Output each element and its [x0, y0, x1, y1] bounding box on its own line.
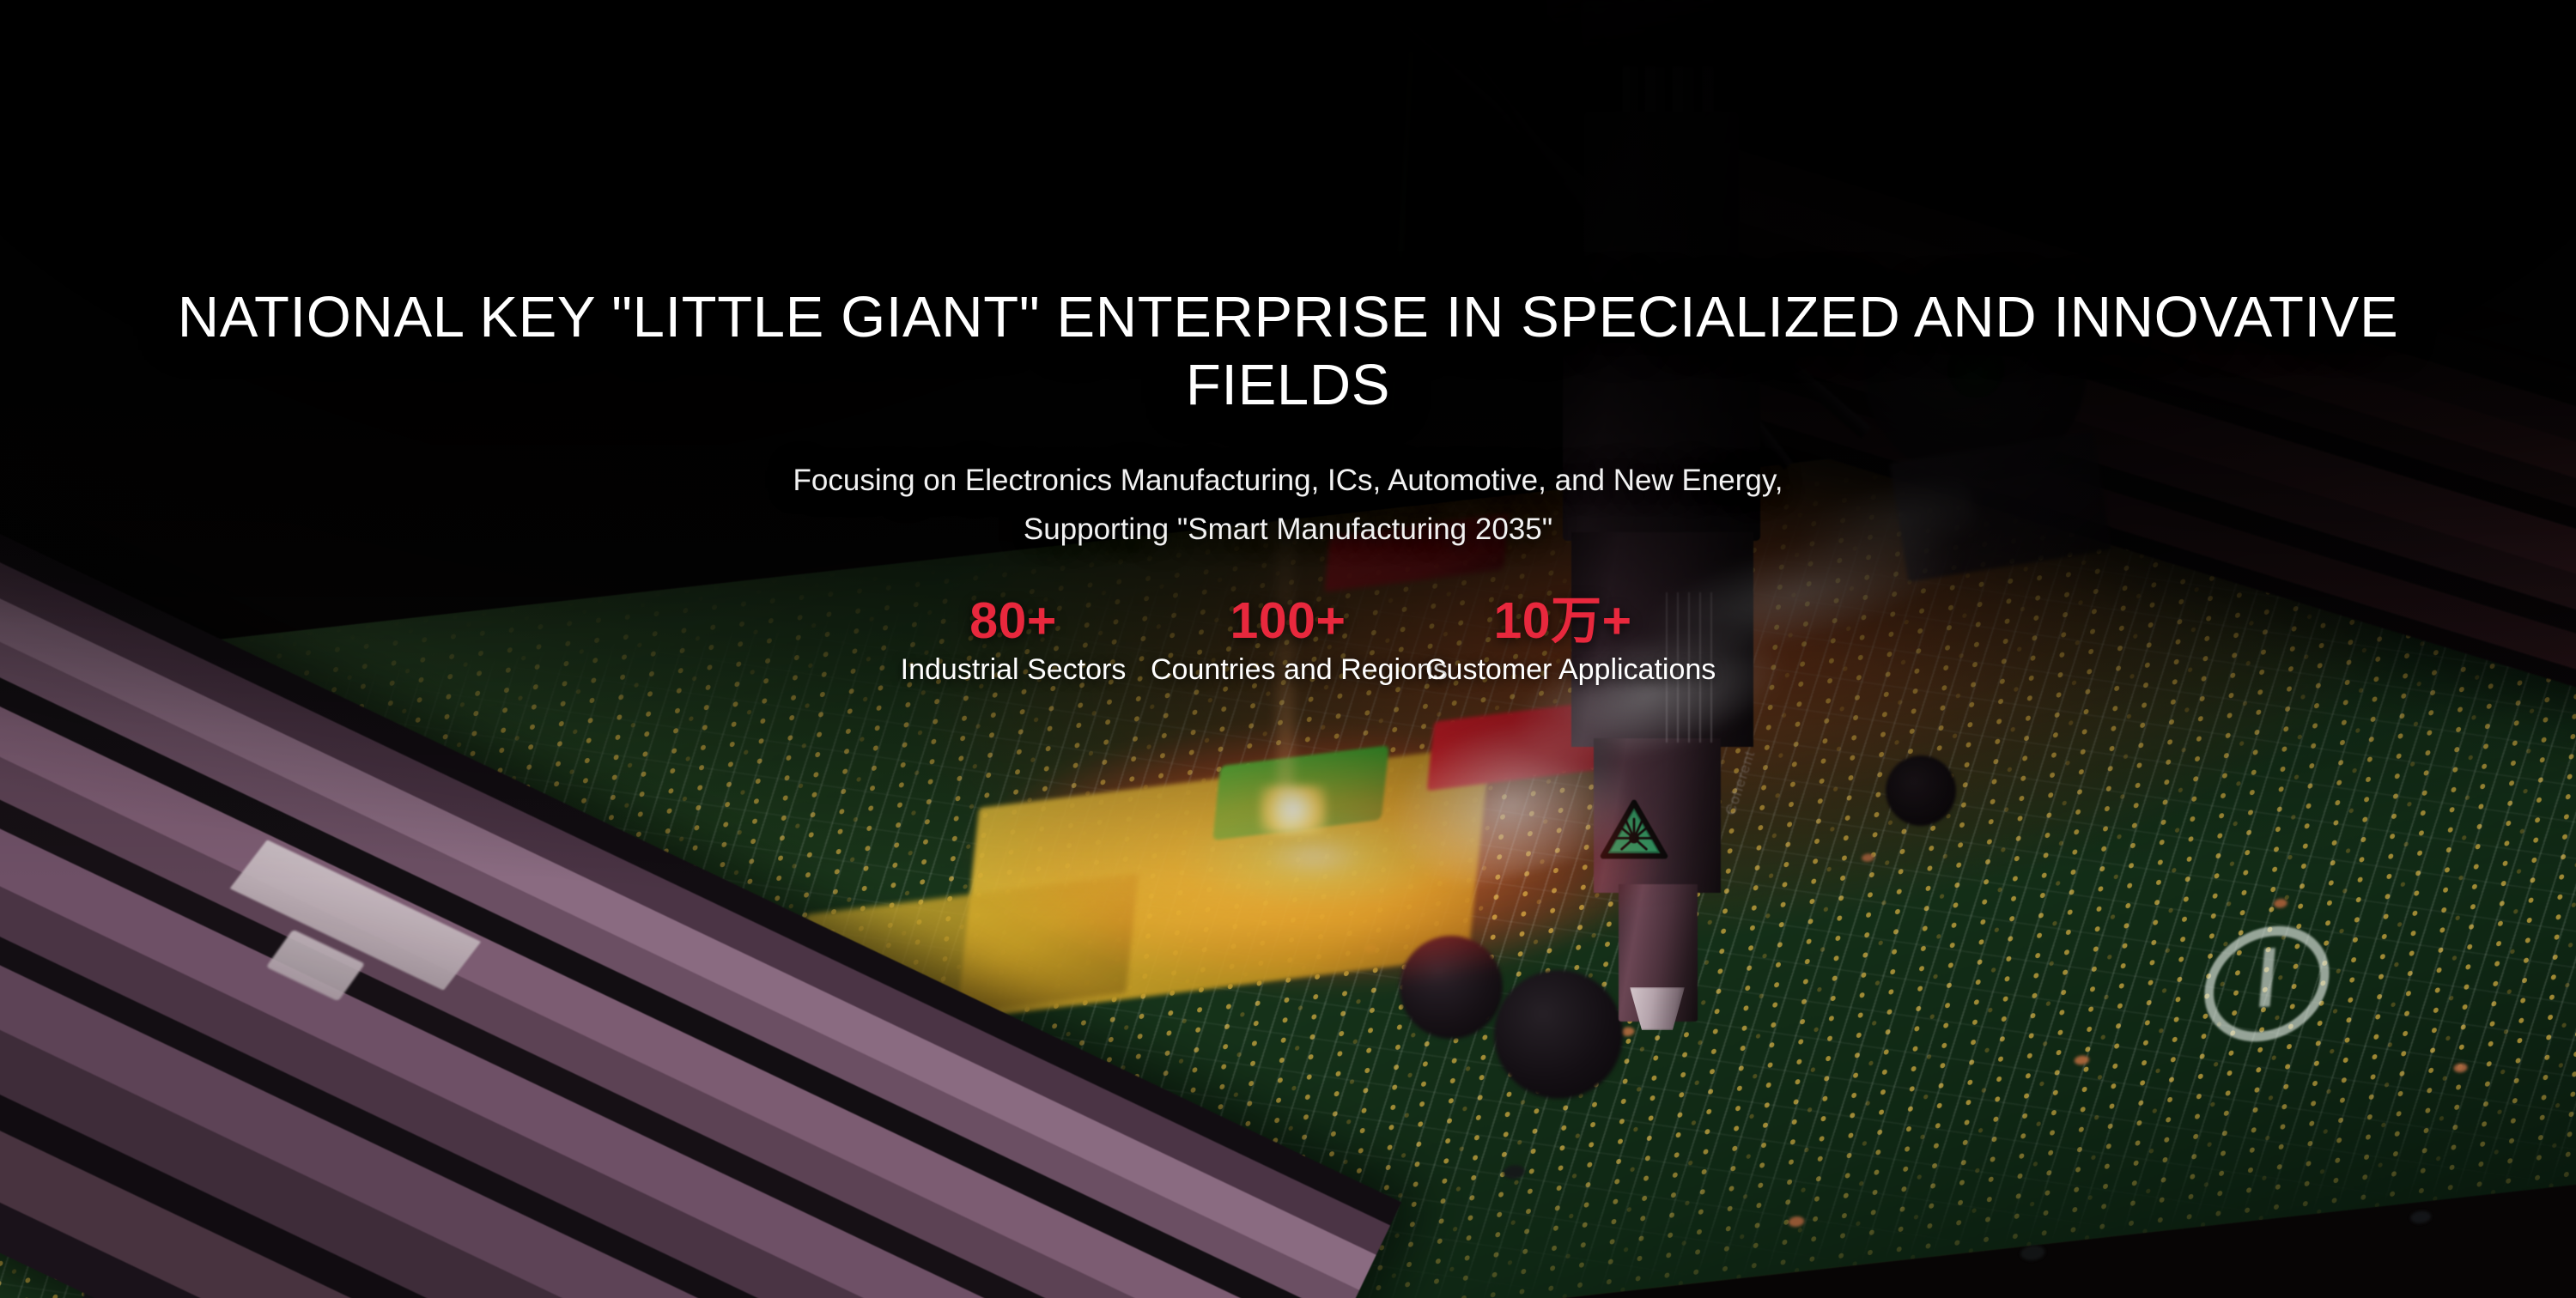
stat-value-countries-and-regions: 100+	[1151, 595, 1425, 648]
stat-customer-applications: 10万+ Customer Applications	[1425, 595, 1700, 687]
hero-content: NATIONAL KEY "LITTLE GIANT" ENTERPRISE I…	[0, 0, 2576, 687]
hero-subtitle-line-1: Focusing on Electronics Manufacturing, I…	[0, 457, 2576, 506]
stat-label-industrial-sectors: Industrial Sectors	[876, 653, 1151, 687]
hero-statistics: 80+ Industrial Sectors 100+ Countries an…	[0, 595, 2576, 687]
hero-subtitle: Focusing on Electronics Manufacturing, I…	[0, 457, 2576, 554]
stat-industrial-sectors: 80+ Industrial Sectors	[876, 595, 1151, 687]
stat-countries-and-regions: 100+ Countries and Regions	[1151, 595, 1425, 687]
stat-value-customer-applications: 10万+	[1425, 595, 1700, 648]
stat-label-countries-and-regions: Countries and Regions	[1151, 653, 1425, 687]
hero-banner: P4T5B 74AC125	[0, 0, 2576, 1298]
hero-subtitle-line-2: Supporting "Smart Manufacturing 2035"	[0, 506, 2576, 555]
stat-label-customer-applications: Customer Applications	[1425, 653, 1700, 687]
page-title: NATIONAL KEY "LITTLE GIANT" ENTERPRISE I…	[163, 283, 2413, 419]
stat-value-industrial-sectors: 80+	[876, 595, 1151, 648]
